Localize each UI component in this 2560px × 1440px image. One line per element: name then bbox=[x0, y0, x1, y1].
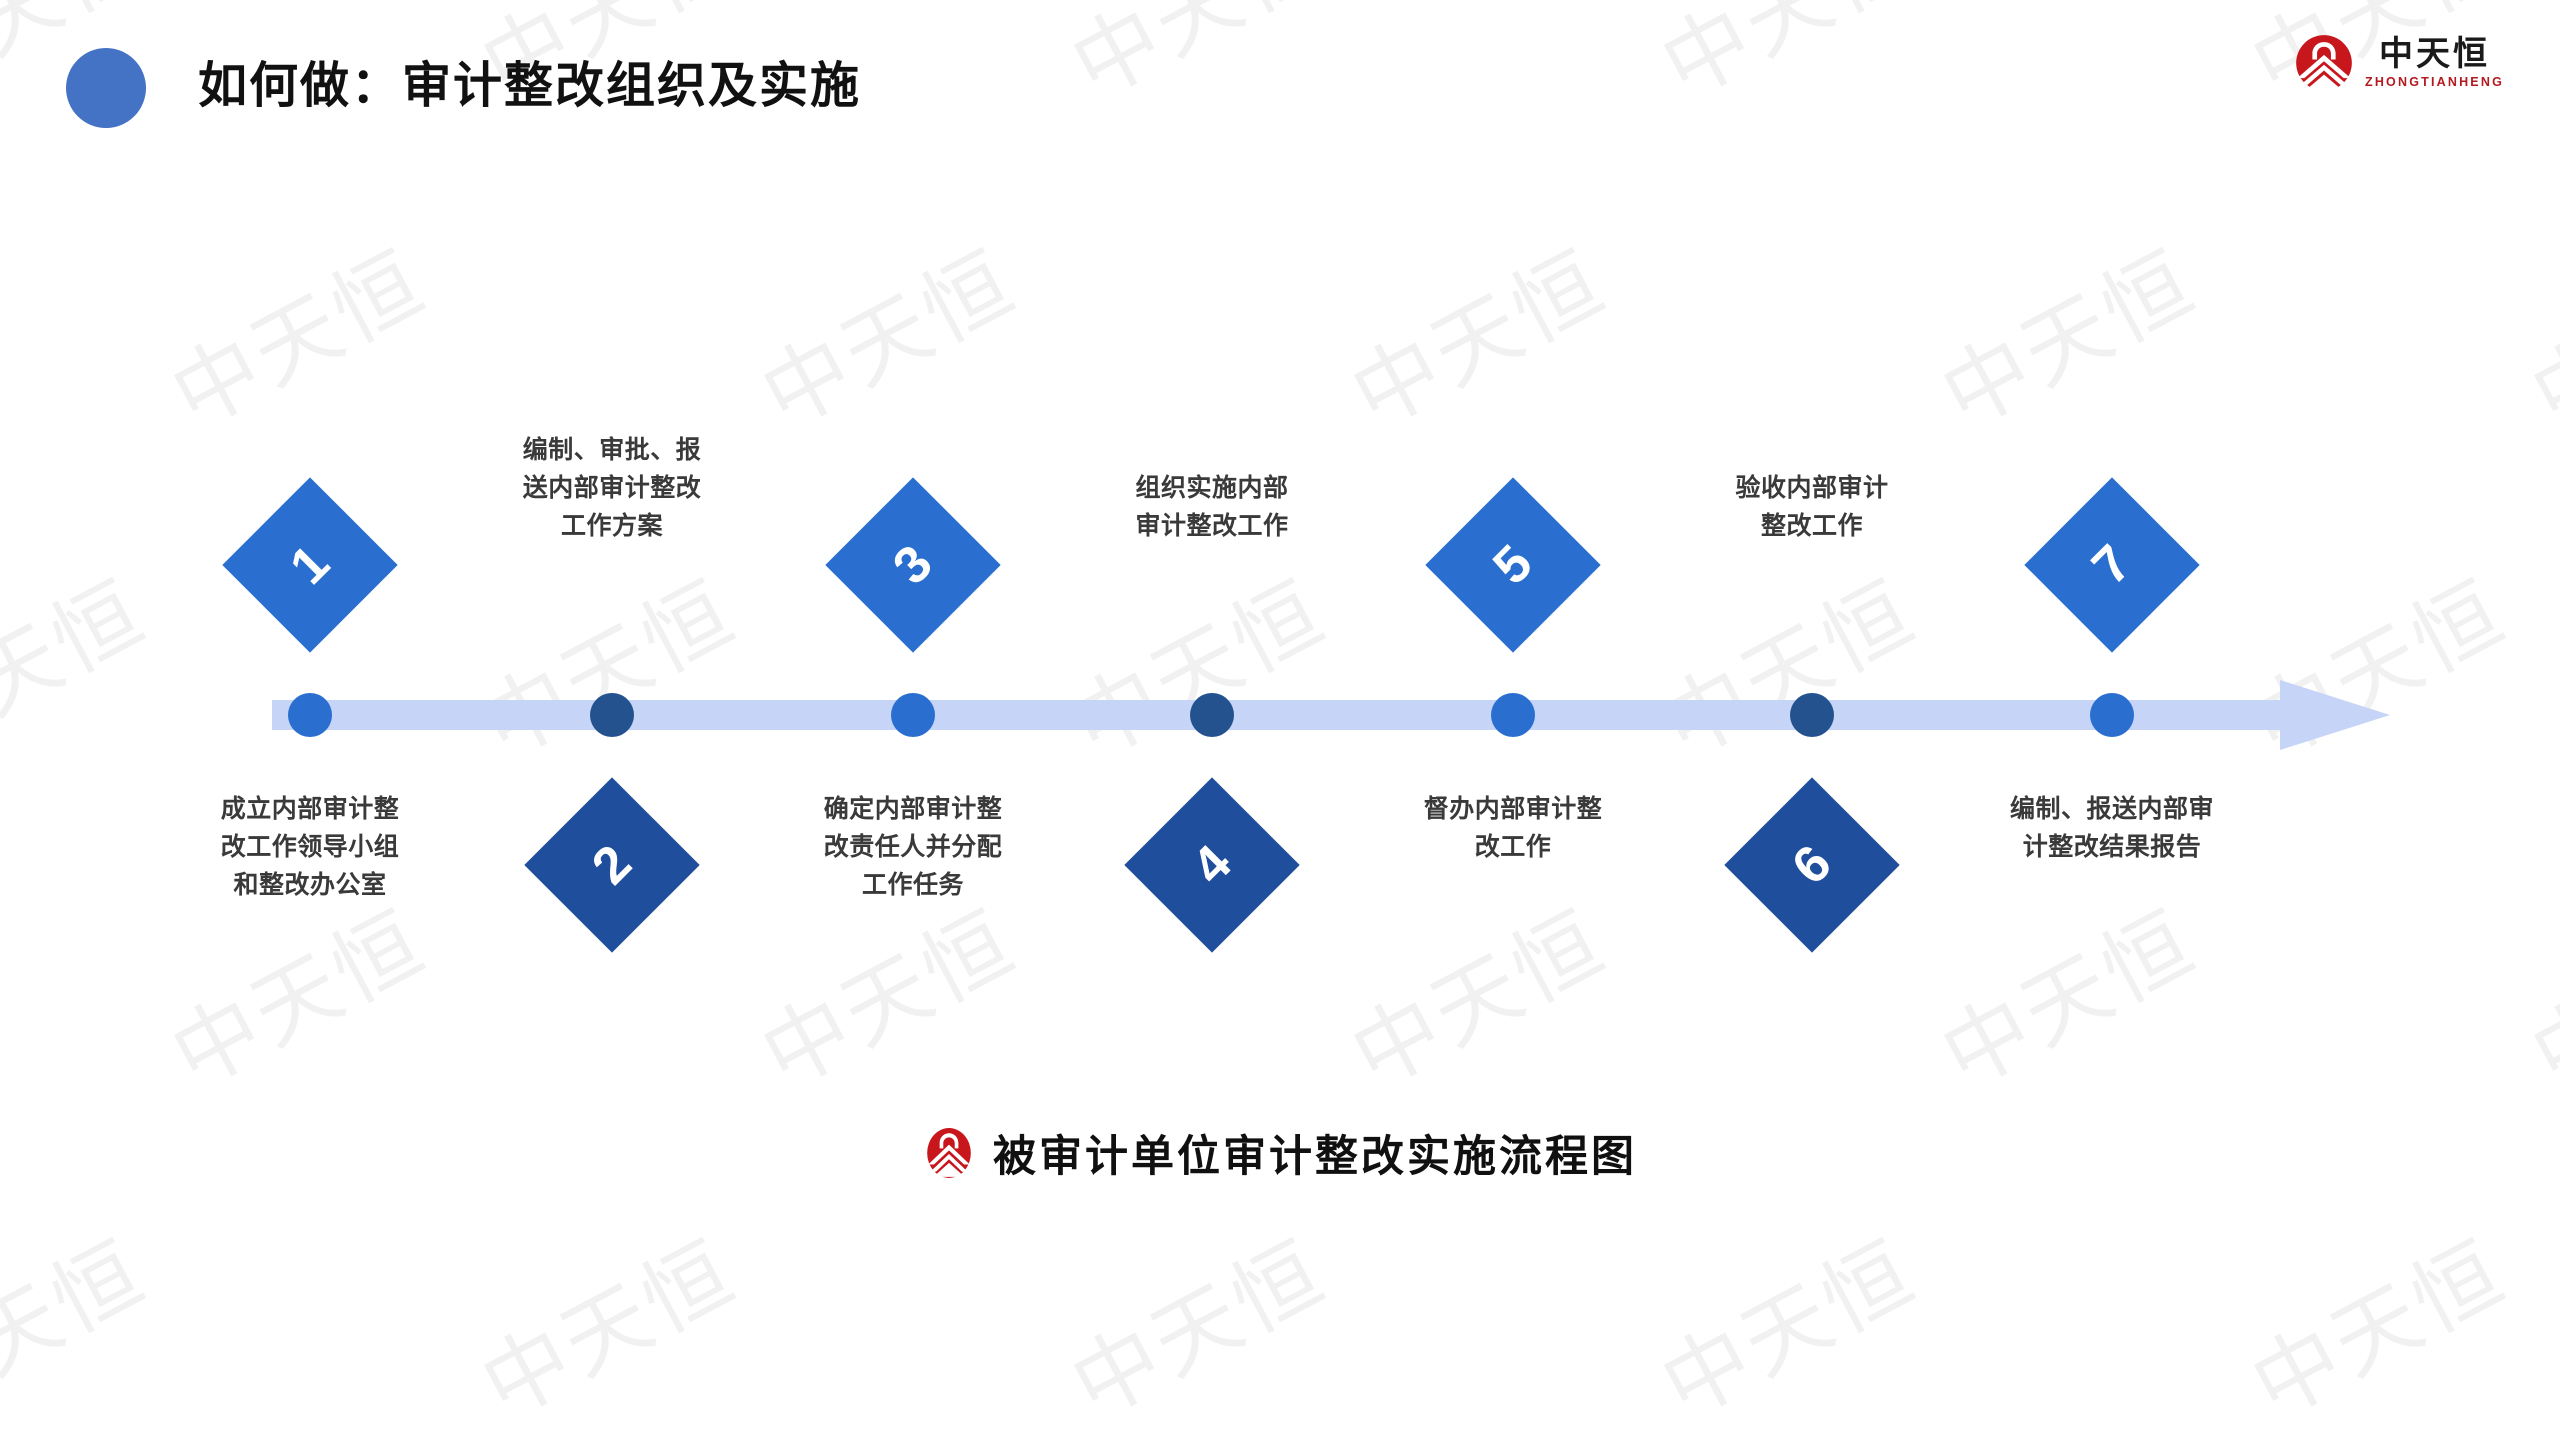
step-number-1: 1 bbox=[222, 477, 397, 652]
timeline-arrow-icon bbox=[2280, 680, 2390, 750]
step-label-line: 和整改办公室 bbox=[180, 866, 440, 904]
step-label-line: 审计整改工作 bbox=[1082, 507, 1342, 545]
diagram-caption: 被审计单位审计整改实施流程图 bbox=[0, 1122, 2560, 1184]
zhongtianheng-mark-icon bbox=[2295, 34, 2353, 92]
timeline-node-dot[interactable] bbox=[288, 693, 332, 737]
step-number-5: 5 bbox=[1425, 477, 1600, 652]
timeline-node-dot[interactable] bbox=[1190, 693, 1234, 737]
step-label-line: 成立内部审计整 bbox=[180, 790, 440, 828]
step-label-line: 编制、报送内部审 bbox=[1982, 790, 2242, 828]
timeline-track bbox=[272, 700, 2332, 730]
step-label-2: 编制、审批、报送内部审计整改工作方案 bbox=[482, 431, 742, 545]
step-label-1: 成立内部审计整改工作领导小组和整改办公室 bbox=[180, 790, 440, 904]
step-label-line: 改工作 bbox=[1383, 828, 1643, 866]
step-number-3: 3 bbox=[825, 477, 1000, 652]
timeline-node-dot[interactable] bbox=[1790, 693, 1834, 737]
step-label-3: 确定内部审计整改责任人并分配工作任务 bbox=[783, 790, 1043, 904]
timeline-node-dot[interactable] bbox=[891, 693, 935, 737]
step-label-7: 编制、报送内部审计整改结果报告 bbox=[1982, 790, 2242, 866]
step-label-line: 计整改结果报告 bbox=[1982, 828, 2242, 866]
caption-zhongtianheng-mark-icon bbox=[923, 1127, 975, 1179]
step-number-4: 4 bbox=[1124, 777, 1299, 952]
step-label-line: 确定内部审计整 bbox=[783, 790, 1043, 828]
step-label-line: 改责任人并分配 bbox=[783, 828, 1043, 866]
step-label-line: 工作任务 bbox=[783, 866, 1043, 904]
timeline-node-dot[interactable] bbox=[1491, 693, 1535, 737]
step-number-7: 7 bbox=[2024, 477, 2199, 652]
caption-text: 被审计单位审计整改实施流程图 bbox=[993, 1122, 1637, 1184]
slide-canvas: 中天恒中天恒中天恒中天恒中天恒中天恒中天恒中天恒中天恒中天恒中天恒中天恒中天恒中… bbox=[0, 0, 2560, 1440]
process-timeline: 1成立内部审计整改工作领导小组和整改办公室2编制、审批、报送内部审计整改工作方案… bbox=[0, 0, 2560, 1440]
page-title: 如何做：审计整改组织及实施 bbox=[198, 46, 861, 117]
brand-wordmark: 中天恒 ZHONGTIANHENG bbox=[2365, 37, 2504, 89]
step-label-line: 送内部审计整改 bbox=[482, 469, 742, 507]
timeline-node-dot[interactable] bbox=[2090, 693, 2134, 737]
step-label-line: 组织实施内部 bbox=[1082, 469, 1342, 507]
title-bullet-icon bbox=[66, 48, 146, 128]
step-label-6: 验收内部审计整改工作 bbox=[1682, 469, 1942, 545]
timeline-node-dot[interactable] bbox=[590, 693, 634, 737]
brand-name-cn: 中天恒 bbox=[2379, 37, 2490, 71]
brand-logo: 中天恒 ZHONGTIANHENG bbox=[2295, 34, 2504, 92]
step-label-line: 工作方案 bbox=[482, 507, 742, 545]
brand-name-en: ZHONGTIANHENG bbox=[2365, 76, 2504, 89]
slide-header: 如何做：审计整改组织及实施 bbox=[0, 0, 2560, 170]
step-number-2: 2 bbox=[524, 777, 699, 952]
step-label-4: 组织实施内部审计整改工作 bbox=[1082, 469, 1342, 545]
step-label-line: 验收内部审计 bbox=[1682, 469, 1942, 507]
step-label-line: 改工作领导小组 bbox=[180, 828, 440, 866]
step-number-6: 6 bbox=[1724, 777, 1899, 952]
step-label-line: 编制、审批、报 bbox=[482, 431, 742, 469]
step-label-5: 督办内部审计整改工作 bbox=[1383, 790, 1643, 866]
step-label-line: 督办内部审计整 bbox=[1383, 790, 1643, 828]
step-label-line: 整改工作 bbox=[1682, 507, 1942, 545]
